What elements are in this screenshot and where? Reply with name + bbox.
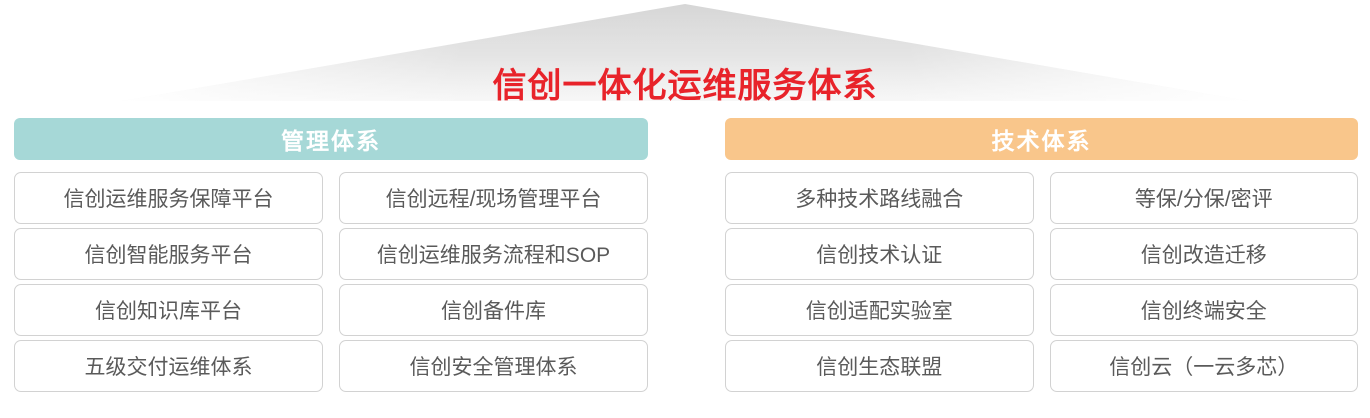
list-item[interactable]: 信创终端安全: [1050, 284, 1359, 336]
list-item[interactable]: 信创备件库: [339, 284, 648, 336]
list-item[interactable]: 信创改造迁移: [1050, 228, 1359, 280]
list-item[interactable]: 信创适配实验室: [725, 284, 1034, 336]
system-header-technology: 技术体系: [725, 118, 1358, 160]
technology-rows: 多种技术路线融合 等保/分保/密评 信创技术认证 信创改造迁移 信创适配实验室 …: [725, 172, 1358, 392]
table-row: 信创适配实验室 信创终端安全: [725, 284, 1358, 336]
table-row: 多种技术路线融合 等保/分保/密评: [725, 172, 1358, 224]
list-item[interactable]: 信创运维服务保障平台: [14, 172, 323, 224]
system-header-management: 管理体系: [14, 118, 648, 160]
systems-container: 管理体系 信创运维服务保障平台 信创远程/现场管理平台 信创智能服务平台 信创运…: [0, 118, 1370, 392]
list-item[interactable]: 信创智能服务平台: [14, 228, 323, 280]
list-item[interactable]: 信创知识库平台: [14, 284, 323, 336]
system-management: 管理体系 信创运维服务保障平台 信创远程/现场管理平台 信创智能服务平台 信创运…: [14, 118, 648, 392]
management-rows: 信创运维服务保障平台 信创远程/现场管理平台 信创智能服务平台 信创运维服务流程…: [14, 172, 648, 392]
table-row: 信创知识库平台 信创备件库: [14, 284, 648, 336]
list-item[interactable]: 多种技术路线融合: [725, 172, 1034, 224]
list-item[interactable]: 信创云（一云多芯）: [1050, 340, 1359, 392]
table-row: 信创技术认证 信创改造迁移: [725, 228, 1358, 280]
system-technology: 技术体系 多种技术路线融合 等保/分保/密评 信创技术认证 信创改造迁移 信创适…: [725, 118, 1358, 392]
list-item[interactable]: 信创生态联盟: [725, 340, 1034, 392]
table-row: 信创运维服务保障平台 信创远程/现场管理平台: [14, 172, 648, 224]
table-row: 五级交付运维体系 信创安全管理体系: [14, 340, 648, 392]
table-row: 信创智能服务平台 信创运维服务流程和SOP: [14, 228, 648, 280]
list-item[interactable]: 信创运维服务流程和SOP: [339, 228, 648, 280]
list-item[interactable]: 五级交付运维体系: [14, 340, 323, 392]
list-item[interactable]: 等保/分保/密评: [1050, 172, 1359, 224]
table-row: 信创生态联盟 信创云（一云多芯）: [725, 340, 1358, 392]
page-title: 信创一体化运维服务体系: [0, 58, 1370, 107]
list-item[interactable]: 信创技术认证: [725, 228, 1034, 280]
list-item[interactable]: 信创远程/现场管理平台: [339, 172, 648, 224]
list-item[interactable]: 信创安全管理体系: [339, 340, 648, 392]
